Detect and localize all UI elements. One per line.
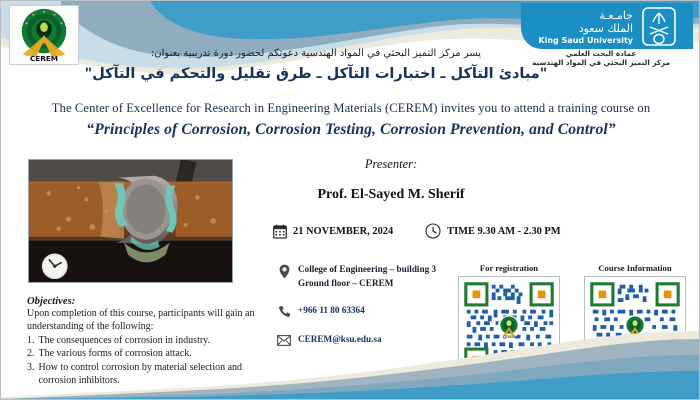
svg-text:CEREM: CEREM (503, 335, 516, 339)
address-line1: College of Engineering – building 3 (298, 264, 436, 274)
presenter-label: Presenter: (251, 157, 531, 172)
phone-icon (277, 304, 291, 320)
address-line2: Ground floor – CEREM (298, 278, 393, 288)
arabic-headline: يسر مركز التميز البحثي في المواد الهندسي… (71, 47, 561, 84)
contact-phone-text: +966 11 80 63364 (298, 304, 365, 318)
contact-phone[interactable]: +966 11 80 63364 (277, 304, 467, 320)
objectives-item-text: How to control corrosion by material sel… (39, 362, 274, 388)
location-pin-icon (277, 263, 291, 279)
qr-registration[interactable]: CEREM (458, 276, 560, 378)
objectives-item-number: 3. (27, 362, 35, 388)
calendar-icon (273, 224, 287, 239)
arabic-invite-line: يسر مركز التميز البحثي في المواد الهندسي… (71, 47, 561, 61)
contact-email-text: CEREM@ksu.edu.sa (298, 333, 382, 347)
svg-text:CEREM: CEREM (629, 335, 642, 339)
objectives-item-text: The various forms of corrosion attack. (39, 348, 274, 361)
objectives-item-number: 1. (27, 335, 35, 348)
qr-course-information[interactable]: CEREM (584, 276, 686, 378)
english-course-title: “Principles of Corrosion, Corrosion Test… (1, 121, 700, 139)
cerem-logo: CEREM (9, 5, 79, 65)
qr-course-information-caption: Course Information (579, 263, 691, 273)
corroded-pipe-photo (28, 159, 233, 283)
contact-address: College of Engineering – building 3 Grou… (277, 263, 467, 291)
event-date-group: 21 NOVEMBER, 2024 (273, 224, 393, 239)
svg-text:King Saud University: King Saud University (538, 36, 633, 45)
objectives-item: 3. How to control corrosion by material … (27, 362, 273, 388)
objectives-item: 1. The consequences of corrosion in indu… (27, 335, 273, 348)
qr-registration-caption: For registration (453, 263, 565, 273)
contact-address-text: College of Engineering – building 3 Grou… (298, 263, 436, 291)
objectives-item: 2. The various forms of corrosion attack… (27, 348, 273, 361)
english-invite-line: The Center of Excellence for Research in… (1, 101, 700, 116)
svg-text:جامـعـة: جامـعـة (599, 9, 633, 22)
objectives-block: Objectives: Upon completion of this cour… (27, 296, 273, 388)
event-time: TIME 9.30 AM - 2.30 PM (447, 226, 560, 237)
objectives-title: Objectives: (27, 296, 273, 307)
envelope-icon (277, 333, 291, 349)
arabic-course-title: "مبادئ التآكل ـ اختبارات التآكل ـ طرق تق… (71, 65, 561, 85)
svg-text:الملك سعود: الملك سعود (579, 22, 633, 35)
ksu-logo: جامـعـة الملك سعود King Saud University (521, 3, 693, 49)
english-title: The Center of Excellence for Research in… (1, 101, 700, 139)
qr-course-information-image: CEREM (587, 279, 683, 375)
clock-icon (425, 223, 441, 239)
event-time-group: TIME 9.30 AM - 2.30 PM (425, 223, 560, 239)
contact-block: College of Engineering – building 3 Grou… (277, 263, 467, 362)
presenter-name: Prof. El-Sayed M. Sherif (251, 187, 531, 203)
qr-registration-block[interactable]: For registration (453, 263, 565, 378)
event-datetime-row: 21 NOVEMBER, 2024 TIME 9.30 AM - 2.30 PM (273, 223, 561, 239)
qr-course-information-block[interactable]: Course Information (579, 263, 691, 378)
objectives-intro: Upon completion of this course, particip… (27, 308, 273, 334)
objectives-list: 1. The consequences of corrosion in indu… (27, 335, 273, 388)
svg-text:CEREM: CEREM (30, 54, 58, 63)
event-date: 21 NOVEMBER, 2024 (293, 226, 393, 237)
objectives-item-number: 2. (27, 348, 35, 361)
qr-registration-image: CEREM (461, 279, 557, 375)
contact-email[interactable]: CEREM@ksu.edu.sa (277, 333, 467, 349)
poster-canvas: CEREM جامـعـة الملك سعود King Saud Unive… (0, 0, 700, 400)
objectives-item-text: The consequences of corrosion in industr… (39, 335, 274, 348)
